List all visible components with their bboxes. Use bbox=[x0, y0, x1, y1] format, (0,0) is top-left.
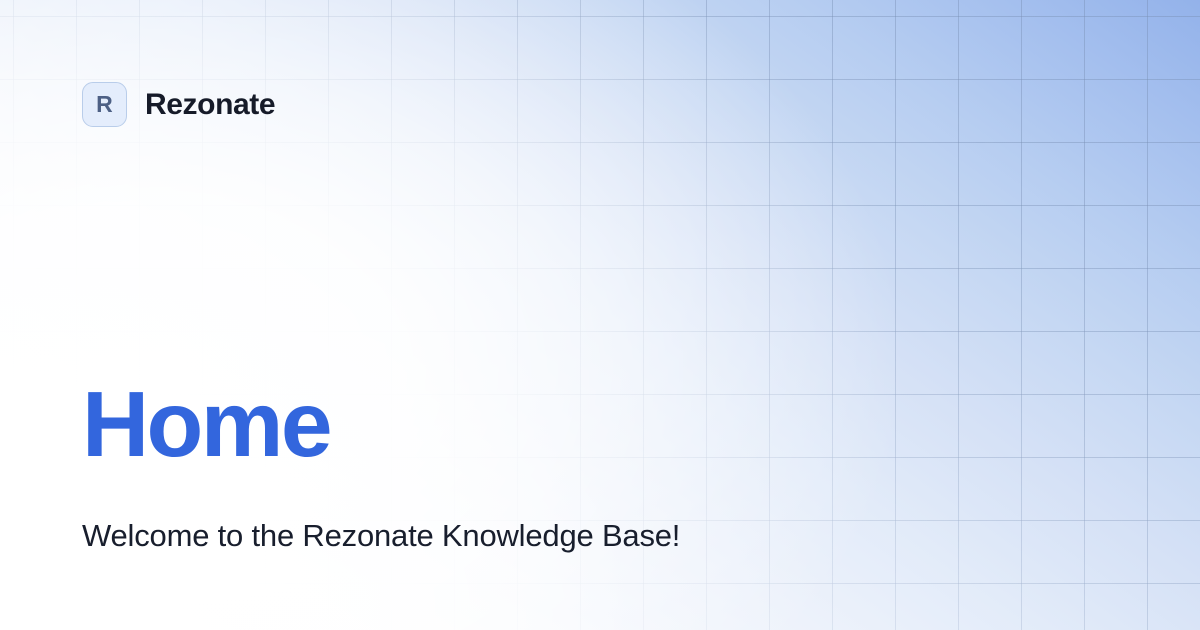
page-subtitle: Welcome to the Rezonate Knowledge Base! bbox=[82, 517, 680, 554]
brand-lockup[interactable]: R Rezonate bbox=[82, 82, 275, 127]
logo-letter: R bbox=[96, 93, 113, 116]
banner-content: R Rezonate Home Welcome to the Rezonate … bbox=[0, 0, 1200, 630]
page-title: Home bbox=[82, 378, 680, 471]
rezonate-logo-icon: R bbox=[82, 82, 127, 127]
headline-block: Home Welcome to the Rezonate Knowledge B… bbox=[82, 378, 680, 554]
hero-banner: R Rezonate Home Welcome to the Rezonate … bbox=[0, 0, 1200, 630]
brand-name: Rezonate bbox=[145, 90, 275, 120]
